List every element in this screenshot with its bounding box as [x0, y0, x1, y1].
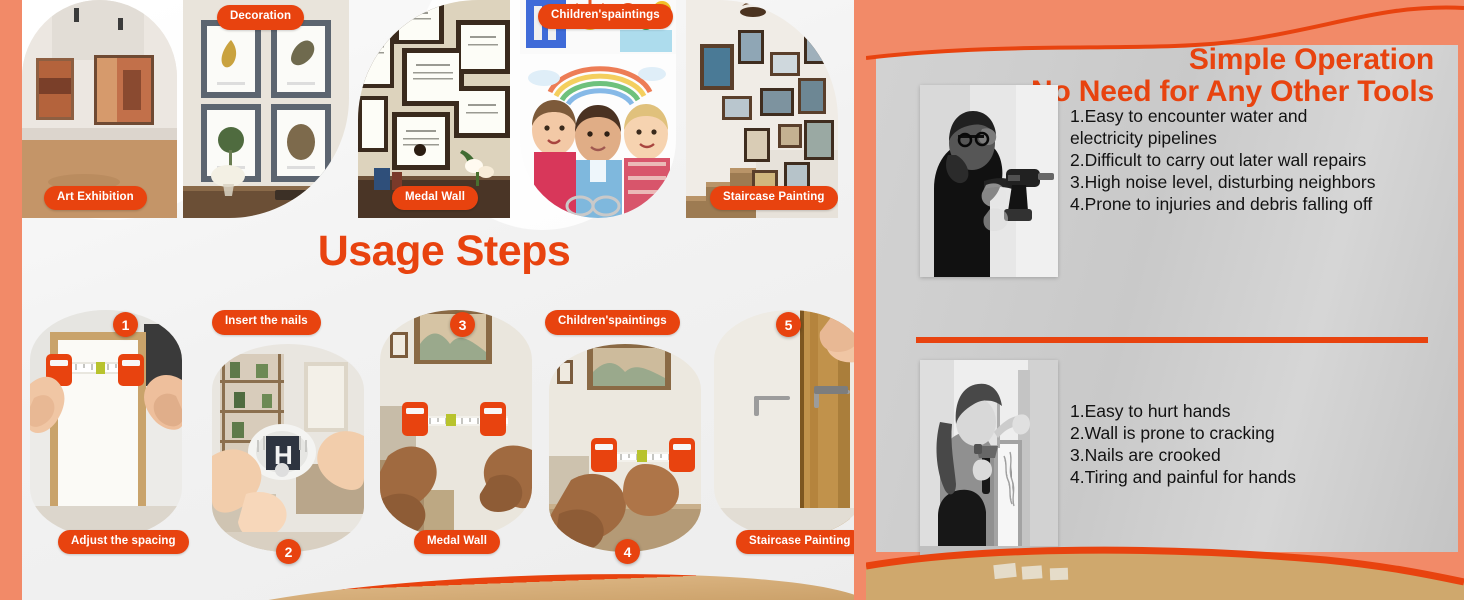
step-label: Staircase Painting — [736, 530, 854, 555]
left-panel: Art Exhibition — [0, 0, 866, 600]
gallery-card-medal-wall[interactable]: Medal Wall — [358, 0, 510, 218]
list-item: electricity pipelines — [1070, 127, 1375, 149]
photo-woman-hammering — [920, 360, 1058, 556]
gallery-card-decoration[interactable]: Decoration — [183, 0, 349, 218]
list-item: 1.Easy to encounter water and — [1070, 105, 1375, 127]
photo-man-with-drill — [920, 85, 1058, 277]
infographic-root: Art Exhibition — [0, 0, 1464, 600]
step-illustration — [714, 310, 854, 538]
gallery-card-label: Art Exhibition — [44, 186, 147, 211]
step-label: Insert the nails — [212, 310, 321, 335]
step-photo — [549, 344, 701, 552]
step-photo: H — [212, 344, 364, 552]
gallery-card-staircase-painting[interactable]: Staircase Painting — [686, 0, 838, 218]
step-label: Children'spaintings — [545, 310, 680, 335]
step-number-badge: 3 — [450, 312, 475, 337]
step-photo — [714, 310, 854, 538]
gallery-card-label: Medal Wall — [392, 186, 478, 211]
usage-steps-title: Usage Steps — [22, 228, 854, 275]
left-panel-content: Art Exhibition — [22, 0, 854, 600]
right-panel: Simple Operation No Need for Any Other T… — [866, 0, 1464, 600]
usage-step-4[interactable]: 4 Children'spaintings — [549, 344, 701, 552]
drawbacks-list-drill: 1.Easy to encounter water and electricit… — [1070, 105, 1375, 215]
section-divider — [916, 337, 1428, 343]
list-item: 3.Nails are crooked — [1070, 444, 1296, 466]
step-illustration — [380, 310, 532, 538]
step-photo — [30, 310, 182, 538]
gallery-card-childrens-paintings[interactable]: Children'spaintings — [520, 0, 676, 218]
gallery-card-label: Staircase Painting — [710, 186, 838, 211]
gallery-card-label: Children'spaintings — [538, 4, 673, 29]
heading-line-1: Simple Operation — [866, 44, 1434, 76]
usage-step-2[interactable]: H — [212, 344, 364, 552]
drawbacks-list-hammer: 1.Easy to hurt hands 2.Wall is prone to … — [1070, 400, 1296, 488]
list-item: 3.High noise level, disturbing neighbors — [1070, 171, 1375, 193]
step-photo — [380, 310, 532, 538]
list-item: 2.Difficult to carry out later wall repa… — [1070, 149, 1375, 171]
step-label: Adjust the spacing — [58, 530, 189, 555]
usage-steps-row: 1 Adjust the spacing — [22, 298, 854, 588]
step-number-badge: 4 — [615, 539, 640, 564]
step-label: Medal Wall — [414, 530, 500, 555]
bottom-wave-decoration — [866, 530, 1464, 600]
step-illustration — [30, 310, 182, 538]
usage-step-5[interactable]: 5 Staircase Painting — [714, 310, 854, 538]
list-item: 1.Easy to hurt hands — [1070, 400, 1296, 422]
list-item: 2.Wall is prone to cracking — [1070, 422, 1296, 444]
drill-illustration — [920, 85, 1058, 277]
step-number-badge: 5 — [776, 312, 801, 337]
usage-step-3[interactable]: 3 Medal Wall — [380, 310, 532, 538]
usage-step-1[interactable]: 1 Adjust the spacing — [30, 310, 182, 538]
list-item: 4.Prone to injuries and debris falling o… — [1070, 193, 1375, 215]
gallery-card-row: Art Exhibition — [22, 0, 854, 222]
step-number-badge: 2 — [276, 539, 301, 564]
step-number-badge: 1 — [113, 312, 138, 337]
list-item: 4.Tiring and painful for hands — [1070, 466, 1296, 488]
gallery-photo — [183, 0, 349, 218]
gallery-card-label: Decoration — [217, 5, 304, 30]
gallery-card-art-exhibition[interactable]: Art Exhibition — [22, 0, 177, 218]
gallery-photo — [520, 0, 676, 218]
hammer-illustration — [920, 360, 1058, 556]
step-illustration: H — [212, 344, 364, 552]
step-illustration — [549, 344, 701, 552]
